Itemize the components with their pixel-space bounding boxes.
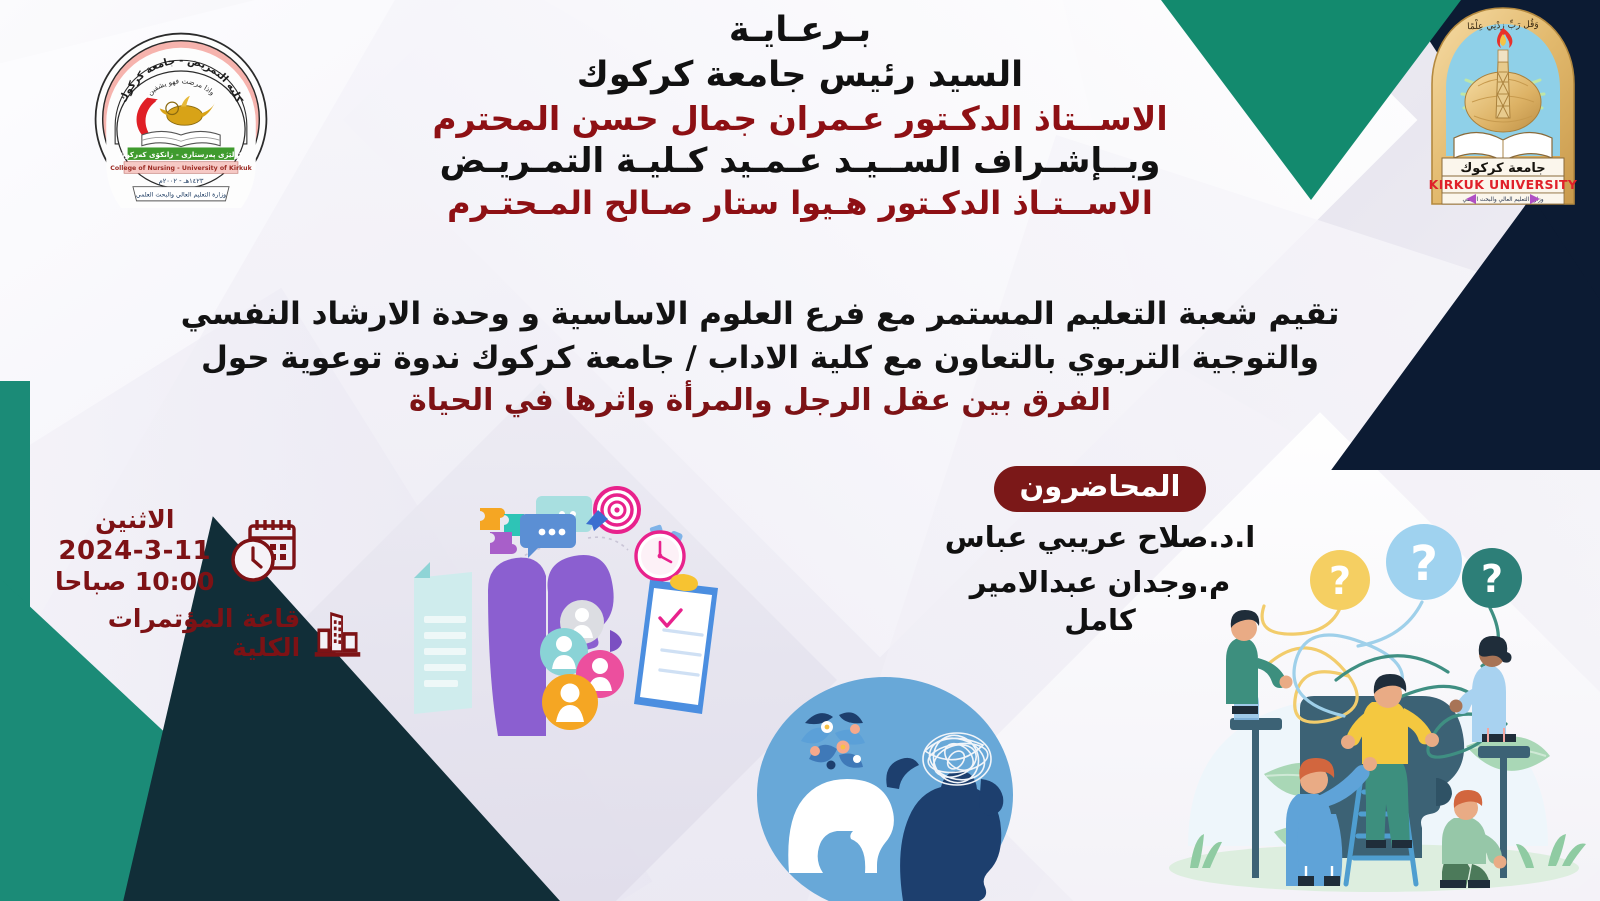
header-line-dean-name: الاســتـاذ الدكـتور هـيوا ستار صـالح الم…: [0, 183, 1600, 224]
lecturers-badge: المحاضرون: [994, 466, 1207, 512]
calendar-clock-icon: [228, 514, 302, 588]
svg-text:?: ?: [1481, 557, 1503, 601]
calm-vs-anxious-minds-illustration: [735, 655, 1035, 901]
body-line-1: تقيم شعبة التعليم المستمر مع فرع العلوم …: [60, 292, 1460, 336]
event-date: 2024-3-11: [55, 536, 214, 568]
header-block: بـرعـايـة السيد رئيس جامعة كركوك الاســت…: [0, 8, 1600, 224]
event-venue: قاعة المؤتمرات الكلية: [55, 604, 300, 662]
event-day: الاثنين: [55, 505, 214, 536]
untangling-thoughts-teamwork-illustration: ? ? ?: [1148, 516, 1600, 901]
body-block: تقيم شعبة التعليم المستمر مع فرع العلوم …: [60, 292, 1460, 423]
event-poster: كلية التمريض - جامعة كركوك واذا مرضت فهو…: [0, 0, 1600, 901]
header-line-supervision: وبــإشـراف الســيـد عـمـيد كـليـة التمـر…: [0, 140, 1600, 184]
body-line-2: والتوجية التربوي بالتعاون مع كلية الاداب…: [60, 336, 1460, 380]
event-details-block: الاثنين 2024-3-11 10:00 صباحا: [55, 505, 365, 662]
building-icon: [312, 604, 365, 662]
svg-text:?: ?: [1329, 559, 1351, 603]
svg-text:?: ?: [1410, 536, 1438, 592]
seminar-topic: الفرق بين عقل الرجل والمرأة واثرها في ال…: [60, 380, 1460, 423]
header-line-president-title: السيد رئيس جامعة كركوك: [0, 53, 1600, 98]
two-heads-collaboration-illustration: [392, 462, 752, 744]
header-line-patronage: بـرعـايـة: [0, 8, 1600, 53]
header-line-president-name: الاســتاذ الدكـتور عـمران جمال حسن المحت…: [0, 98, 1600, 140]
person-left: [1226, 610, 1293, 720]
event-datetime: الاثنين 2024-3-11 10:00 صباحا: [55, 505, 214, 598]
event-time: 10:00 صباحا: [55, 567, 214, 598]
